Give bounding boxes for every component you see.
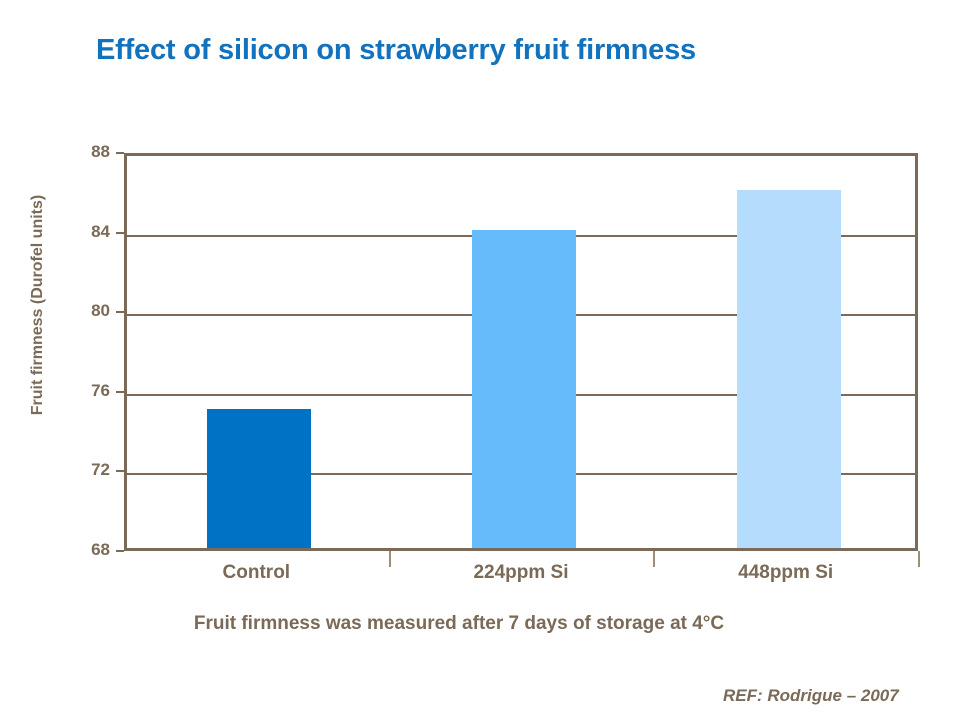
plot-area xyxy=(124,153,918,551)
y-axis-tick-mark xyxy=(116,232,124,234)
y-axis-tick-label: 76 xyxy=(50,381,110,401)
bar-control xyxy=(207,409,311,548)
bar-448ppm-si xyxy=(737,190,841,548)
y-axis-tick-label: 68 xyxy=(50,540,110,560)
y-axis-tick-mark xyxy=(116,311,124,313)
x-axis-category-label: Control xyxy=(136,562,376,584)
chart-caption: Fruit firmness was measured after 7 days… xyxy=(0,613,918,635)
y-axis-tick-label: 88 xyxy=(50,142,110,162)
x-axis-category-label: 448ppm Si xyxy=(666,562,906,584)
y-axis-tick-label: 80 xyxy=(50,301,110,321)
y-axis-tick-mark xyxy=(116,391,124,393)
y-axis-tick-label: 84 xyxy=(50,222,110,242)
y-axis-tick-mark xyxy=(116,470,124,472)
x-axis-tick-mark xyxy=(389,551,391,567)
bar-224ppm-si xyxy=(472,230,576,548)
x-axis-tick-mark xyxy=(918,551,920,567)
y-axis-tick-mark xyxy=(116,550,124,552)
y-axis-tick-mark xyxy=(116,152,124,154)
chart-figure: 888480767268 Control224ppm Si448ppm Si xyxy=(0,0,960,720)
x-axis-tick-mark xyxy=(653,551,655,567)
x-axis-category-label: 224ppm Si xyxy=(401,562,641,584)
y-axis-tick-label: 72 xyxy=(50,460,110,480)
chart-reference: REF: Rodrigue – 2007 xyxy=(723,686,899,706)
